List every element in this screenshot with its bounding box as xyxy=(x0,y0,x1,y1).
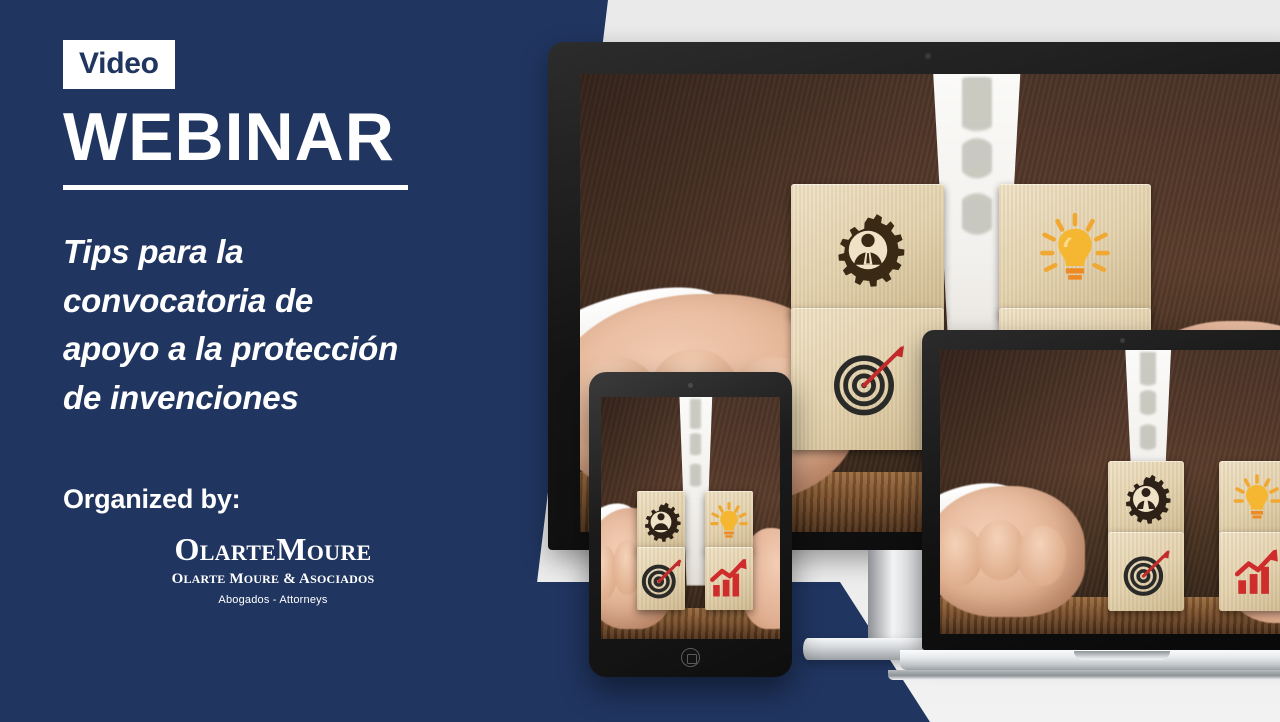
laptop-front-edge xyxy=(888,670,1280,680)
logo-cap-o: O xyxy=(174,531,199,567)
laptop-screen xyxy=(940,350,1280,634)
laptop-camera-icon xyxy=(1120,338,1125,343)
olarte-moure-logo: OLARTEMOURE OLARTE MOURE & ASOCIADOS Abo… xyxy=(145,533,401,606)
puzzle-piece-chart xyxy=(1219,532,1280,612)
logo-smallcaps-larte: LARTE xyxy=(200,540,277,565)
tablet-camera-icon xyxy=(688,383,693,388)
monitor-camera-icon xyxy=(925,53,931,59)
target-arrow-icon xyxy=(1120,546,1172,598)
page-title: WEBINAR xyxy=(63,103,493,171)
subtitle-line-1: Tips para la xyxy=(63,228,493,277)
subtitle-line-4: de invenciones xyxy=(63,374,493,423)
tablet xyxy=(589,372,792,677)
subtitle: Tips para la convocatoria de apoyo a la … xyxy=(63,228,493,422)
video-badge: Video xyxy=(63,40,175,89)
gear-person-icon xyxy=(831,213,905,287)
logo-primary-text: OLARTEMOURE xyxy=(145,533,401,565)
logo-cap-m: M xyxy=(276,531,307,567)
puzzle-piece-target xyxy=(637,547,685,610)
subtitle-line-2: convocatoria de xyxy=(63,277,493,326)
lightbulb-icon xyxy=(1037,212,1113,288)
target-arrow-icon xyxy=(639,556,683,600)
title-underline xyxy=(63,185,408,190)
bar-chart-arrow-icon xyxy=(1231,546,1280,598)
slide-canvas: Video WEBINAR Tips para la convocatoria … xyxy=(0,0,1280,722)
headline-block: Video WEBINAR Tips para la convocatoria … xyxy=(63,40,493,515)
left-hand xyxy=(940,486,1085,617)
tablet-home-button[interactable] xyxy=(681,648,700,667)
puzzle-piece-bulb xyxy=(1219,461,1280,538)
tablet-photo xyxy=(601,397,780,639)
tablet-screen xyxy=(601,397,780,639)
laptop-photo xyxy=(940,350,1280,634)
organized-by-label: Organized by: xyxy=(63,484,493,515)
subtitle-line-3: apoyo a la protección xyxy=(63,325,493,374)
laptop-bezel xyxy=(922,330,1280,650)
laptop xyxy=(922,330,1280,690)
puzzle-piece-gear xyxy=(637,491,685,552)
puzzle-piece-bulb xyxy=(999,184,1152,317)
lightbulb-icon xyxy=(1232,474,1280,524)
laptop-notch xyxy=(1074,651,1170,660)
gear-person-icon xyxy=(641,502,681,542)
logo-tagline: Abogados - Attorneys xyxy=(145,595,401,606)
puzzle-piece-chart xyxy=(705,547,753,610)
puzzle-piece-bulb xyxy=(705,491,753,552)
puzzle-piece-target xyxy=(1108,532,1184,612)
puzzle-piece-gear xyxy=(791,184,944,317)
logo-secondary-text: OLARTE MOURE & ASOCIADOS xyxy=(145,572,401,587)
target-arrow-icon xyxy=(828,339,908,419)
bar-chart-arrow-icon xyxy=(707,556,751,600)
puzzle-piece-gear xyxy=(1108,461,1184,538)
gear-person-icon xyxy=(1121,474,1171,524)
logo-smallcaps-oure: OURE xyxy=(307,540,372,565)
lightbulb-icon xyxy=(709,502,749,542)
